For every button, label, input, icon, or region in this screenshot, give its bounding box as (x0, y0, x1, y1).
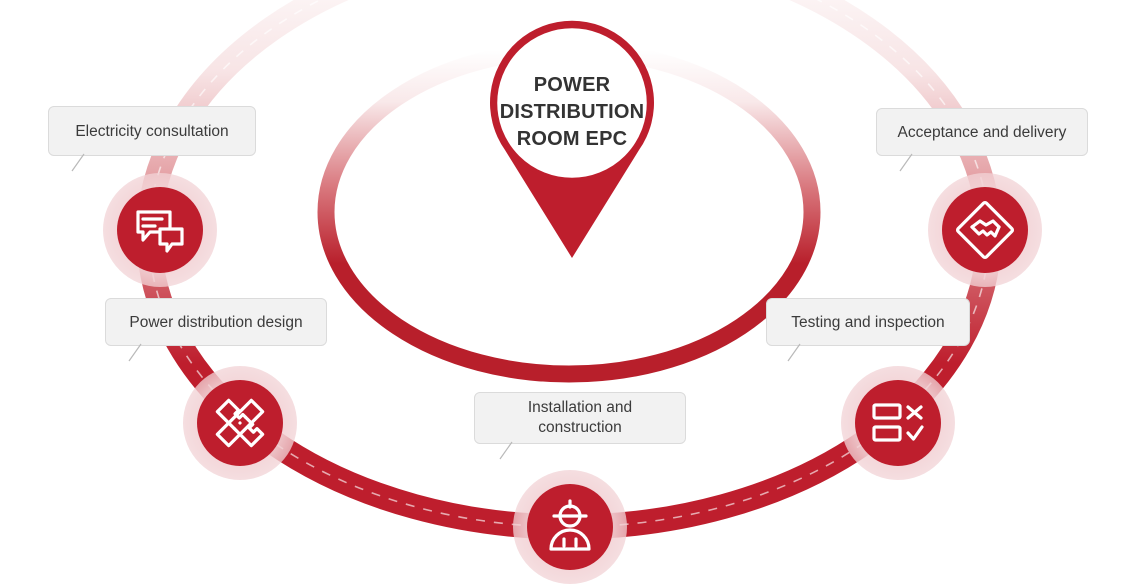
callout-tail-icon (899, 154, 913, 172)
callout-tail-icon (128, 344, 142, 362)
pin-label-line2: DISTRIBUTION (492, 99, 652, 126)
label-text-line2: construction (538, 419, 622, 436)
pin-label-line3: ROOM EPC (492, 126, 652, 153)
node-circle (942, 187, 1028, 273)
label-power-distribution-design[interactable]: Power distribution design (105, 298, 327, 346)
label-text: Acceptance and delivery (898, 123, 1067, 142)
callout-tail-icon (71, 154, 85, 172)
center-pin-label: POWER DISTRIBUTION ROOM EPC (492, 72, 652, 153)
label-installation-construction[interactable]: Installation and construction (474, 392, 686, 444)
label-text-line1: Installation and (528, 399, 632, 416)
process-diagram: POWER DISTRIBUTION ROOM EPC Electricity … (0, 0, 1139, 587)
label-electricity-consultation[interactable]: Electricity consultation (48, 106, 256, 156)
node-testing-inspection[interactable] (841, 366, 955, 480)
label-acceptance-delivery[interactable]: Acceptance and delivery (876, 108, 1088, 156)
label-text: Installation and construction (528, 398, 632, 438)
callout-tail-icon (499, 442, 513, 460)
callout-tail-icon (787, 344, 801, 362)
label-text: Power distribution design (129, 313, 302, 332)
label-text: Electricity consultation (75, 122, 228, 141)
label-text: Testing and inspection (791, 313, 944, 332)
pin-label-line1: POWER (492, 72, 652, 99)
node-circle (855, 380, 941, 466)
node-acceptance-delivery[interactable] (928, 173, 1042, 287)
label-testing-inspection[interactable]: Testing and inspection (766, 298, 970, 346)
